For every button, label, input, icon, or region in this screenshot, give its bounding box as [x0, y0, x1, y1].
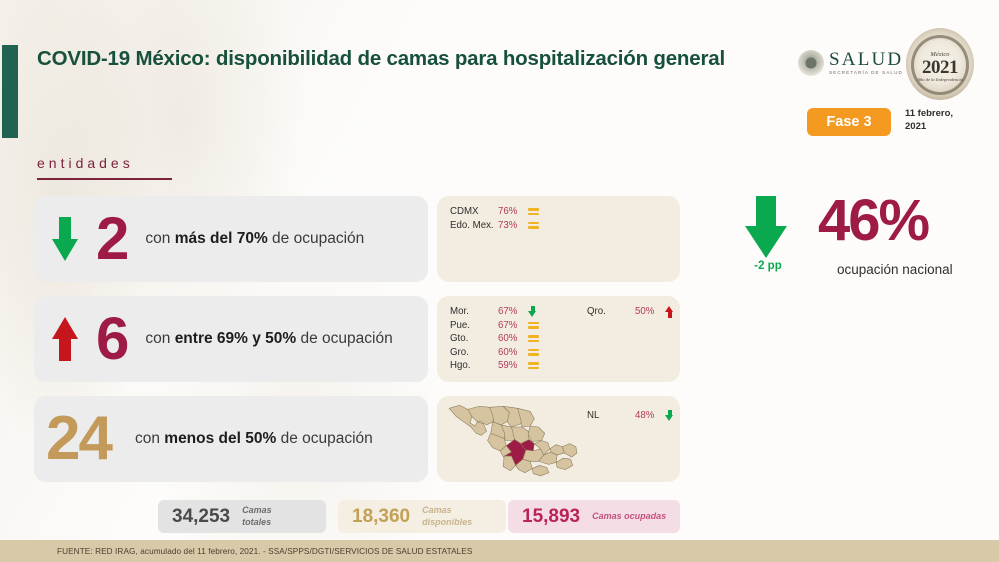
state-name: Gto.: [450, 333, 498, 344]
panel-over-70-states: CDMX 76% Edo. Mex. 73%: [437, 196, 680, 282]
panel-under-50-map: NL 48%: [437, 396, 680, 482]
stat-label: Camas ocupadas: [592, 511, 666, 522]
state-percent: 48%: [635, 410, 665, 421]
page-title: COVID-19 México: disponibilidad de camas…: [37, 47, 767, 71]
seal-bottom-text: Año de la Independencia: [915, 77, 965, 82]
panel-2-state-list: Mor. 67% Pue. 67% Gto. 60% Gro. 60%: [450, 305, 542, 373]
stat-value: 34,253: [172, 506, 230, 528]
salud-subtitle: SECRETARÍA DE SALUD: [829, 71, 903, 76]
state-name: NL: [587, 410, 635, 421]
stat-label-line-1: Camas: [242, 505, 272, 515]
panel-3-state-list-right: NL 48%: [587, 409, 679, 423]
date-line-1: 11 febrero,: [905, 108, 977, 121]
stat-camas-ocupadas: 15,893 Camas ocupadas: [508, 500, 680, 533]
state-percent: 50%: [635, 306, 665, 317]
salud-logo: SALUD SECRETARÍA DE SALUD: [798, 45, 898, 81]
slide-root: COVID-19 México: disponibilidad de camas…: [0, 0, 999, 562]
state-percent: 73%: [498, 220, 528, 231]
national-arrow-down-icon: [745, 196, 787, 258]
stat-label-line-2: disponibles: [422, 517, 472, 527]
panel-2-state-list-right: Qro. 50%: [587, 305, 679, 319]
stat-label: Camas disponibles: [422, 505, 472, 528]
state-percent: 59%: [498, 360, 528, 371]
panel-between-69-50-states: Mor. 67% Pue. 67% Gto. 60% Gro. 60%: [437, 296, 680, 382]
mexico-map-icon: [445, 400, 580, 480]
panel-1-state-list: CDMX 76% Edo. Mex. 73%: [450, 205, 542, 232]
state-name: Pue.: [450, 320, 498, 331]
card-1-text-bold: más del 70%: [175, 230, 268, 247]
section-label-entidades: entidades: [37, 155, 134, 171]
state-name: CDMX: [450, 206, 498, 217]
stat-value: 15,893: [522, 506, 580, 528]
stat-label: Camas totales: [242, 505, 272, 528]
card-3-text-pre: con: [135, 430, 164, 447]
card-under-50: 24 con menos del 50% de ocupación: [34, 396, 428, 482]
card-2-description: con entre 69% y 50% de ocupación: [145, 328, 392, 349]
eagle-seal-icon: [798, 50, 824, 76]
card-3-count: 24: [46, 411, 111, 467]
arrow-up-icon: [52, 317, 78, 361]
state-name: Gro.: [450, 347, 498, 358]
state-row: Hgo. 59%: [450, 359, 542, 373]
card-1-arrow-slot: [34, 217, 96, 261]
stat-label-line-2: totales: [242, 517, 271, 527]
stat-label-line-1: Camas ocupadas: [592, 511, 666, 521]
card-2-count: 6: [96, 312, 127, 366]
state-percent: 67%: [498, 320, 528, 331]
accent-bar: [2, 45, 18, 138]
national-label: ocupación nacional: [837, 262, 953, 277]
trend-equal-icon: [528, 335, 542, 343]
state-percent: 76%: [498, 206, 528, 217]
card-1-count: 2: [96, 212, 127, 266]
trend-equal-icon: [528, 221, 542, 229]
card-between-69-50: 6 con entre 69% y 50% de ocupación: [34, 296, 428, 382]
trend-down-icon: [528, 306, 542, 318]
stat-value: 18,360: [352, 506, 410, 528]
salud-word: SALUD: [829, 50, 903, 69]
trend-down-icon: [665, 410, 679, 422]
trend-up-icon: [665, 306, 679, 318]
stat-camas-disponibles: 18,360 Camas disponibles: [338, 500, 506, 533]
state-name: Edo. Mex.: [450, 220, 498, 231]
state-name: Hgo.: [450, 360, 498, 371]
section-underline: [37, 178, 172, 180]
card-1-text-post: de ocupación: [268, 230, 365, 247]
stat-label-line-1: Camas: [422, 505, 452, 515]
card-1-description: con más del 70% de ocupación: [145, 228, 364, 249]
state-row: Qro. 50%: [587, 305, 679, 319]
card-3-description: con menos del 50% de ocupación: [135, 428, 373, 449]
arrow-down-icon: [52, 217, 78, 261]
state-percent: 60%: [498, 347, 528, 358]
mexico-map-svg: [445, 400, 580, 480]
phase-badge: Fase 3: [807, 108, 891, 136]
footer-source-text: FUENTE: RED IRAG, acumulado del 11 febre…: [57, 547, 472, 556]
card-1-text-pre: con: [145, 230, 174, 247]
national-delta: -2 pp: [743, 260, 793, 272]
stat-camas-totales: 34,253 Camas totales: [158, 500, 326, 533]
card-2-text-pre: con: [145, 330, 174, 347]
trend-equal-icon: [528, 321, 542, 329]
card-2-text-post: de ocupación: [296, 330, 393, 347]
card-3-text-bold: menos del 50%: [164, 430, 276, 447]
card-2-arrow-slot: [34, 317, 96, 361]
card-2-text-bold: entre 69% y 50%: [175, 330, 297, 347]
date-line-2: 2021: [905, 121, 977, 134]
trend-equal-icon: [528, 362, 542, 370]
trend-equal-icon: [528, 208, 542, 216]
state-name: Qro.: [587, 306, 635, 317]
trend-equal-icon: [528, 348, 542, 356]
state-row: Edo. Mex. 73%: [450, 219, 542, 233]
state-row: Gto. 60%: [450, 332, 542, 346]
date-block: 11 febrero, 2021: [905, 108, 977, 134]
state-row: Mor. 67%: [450, 305, 542, 319]
national-percent: 46%: [818, 192, 928, 250]
state-percent: 67%: [498, 306, 528, 317]
card-3-text-post: de ocupación: [276, 430, 373, 447]
salud-wordmark: SALUD SECRETARÍA DE SALUD: [829, 50, 903, 76]
seal-2021-icon: México 2021 Año de la Independencia: [906, 28, 974, 100]
state-percent: 60%: [498, 333, 528, 344]
footer-bar: FUENTE: RED IRAG, acumulado del 11 febre…: [0, 540, 999, 562]
seal-year-text: 2021: [922, 58, 958, 77]
state-row: Gro. 60%: [450, 346, 542, 360]
state-name: Mor.: [450, 306, 498, 317]
state-row: Pue. 67%: [450, 319, 542, 333]
state-row: NL 48%: [587, 409, 679, 423]
card-over-70: 2 con más del 70% de ocupación: [34, 196, 428, 282]
state-row: CDMX 76%: [450, 205, 542, 219]
